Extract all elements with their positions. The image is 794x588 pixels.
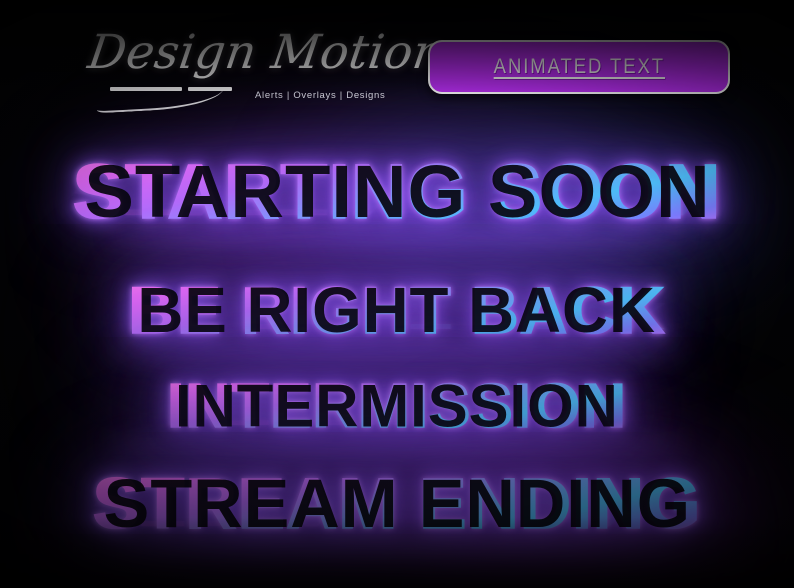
header: Design Motion Alerts | Overlays | Design… <box>0 0 794 120</box>
brand-logo: Design Motion Alerts | Overlays | Design… <box>88 16 408 112</box>
animated-text-badge[interactable]: ANIMATED TEXT <box>428 40 730 94</box>
animated-text-badge-label: ANIMATED TEXT <box>493 55 664 79</box>
glow-blob-2 <box>330 120 750 300</box>
glow-blob-4 <box>120 360 640 520</box>
logo-underline-bar-2 <box>188 87 232 91</box>
neon-text-preview-canvas: Design Motion Alerts | Overlays | Design… <box>0 0 794 588</box>
glow-blob-5 <box>95 455 665 588</box>
logo-underline-bar-1 <box>110 87 182 91</box>
glow-blob-6 <box>430 445 760 588</box>
glow-blob-1 <box>120 130 640 320</box>
logo-brand-name: Design Motion <box>82 16 413 96</box>
logo-tagline: Alerts | Overlays | Designs <box>255 90 385 101</box>
glow-blob-3 <box>110 262 630 422</box>
